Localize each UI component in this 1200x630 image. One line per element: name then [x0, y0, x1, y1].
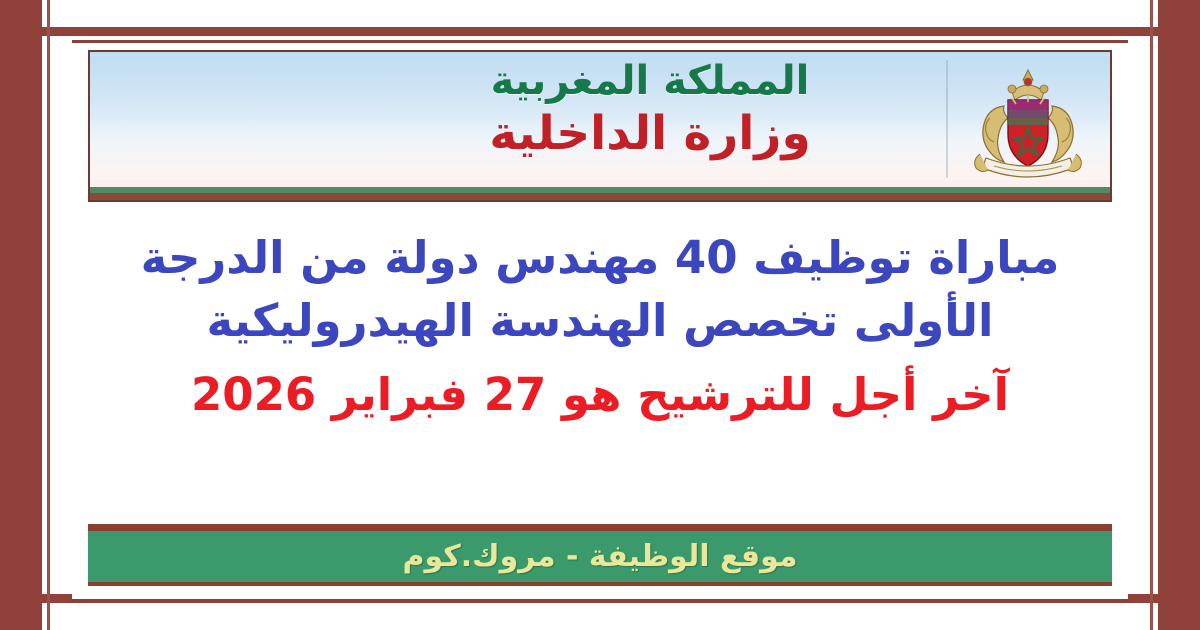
- headline-line-2: الأولى تخصص الهندسة الهيدروليكية: [88, 289, 1112, 352]
- poster-root: المملكة المغربية وزارة الداخلية: [0, 0, 1200, 630]
- frame-line-right: [1150, 0, 1153, 630]
- kingdom-of-morocco-label: المملكة المغربية: [370, 58, 930, 105]
- announcement-body: مباراة توظيف 40 مهندس دولة من الدرجة الأ…: [88, 202, 1112, 524]
- site-footer-strip: موقع الوظيفة - مروك.كوم: [88, 524, 1112, 586]
- ministry-header-banner: المملكة المغربية وزارة الداخلية: [88, 50, 1112, 202]
- banner-divider: [946, 60, 948, 178]
- site-name-label: موقع الوظيفة - مروك.كوم: [403, 539, 798, 574]
- frame-line-left: [47, 0, 50, 630]
- frame-rail-left: [0, 0, 42, 630]
- ministry-titles: المملكة المغربية وزارة الداخلية: [370, 58, 930, 163]
- frame-rail-right: [1158, 0, 1200, 630]
- content-card: المملكة المغربية وزارة الداخلية: [72, 40, 1128, 602]
- deadline-line: آخر أجل للترشيح هو 27 فبراير 2026: [88, 366, 1112, 425]
- ministry-of-interior-label: وزارة الداخلية: [370, 105, 930, 162]
- content-card-inner: المملكة المغربية وزارة الداخلية: [88, 50, 1112, 598]
- frame-rule-top: [0, 27, 1200, 36]
- headline-line-1: مباراة توظيف 40 مهندس دولة من الدرجة: [88, 226, 1112, 289]
- banner-brown-strip: [90, 193, 1110, 200]
- moroccan-coat-of-arms-icon: [960, 62, 1096, 188]
